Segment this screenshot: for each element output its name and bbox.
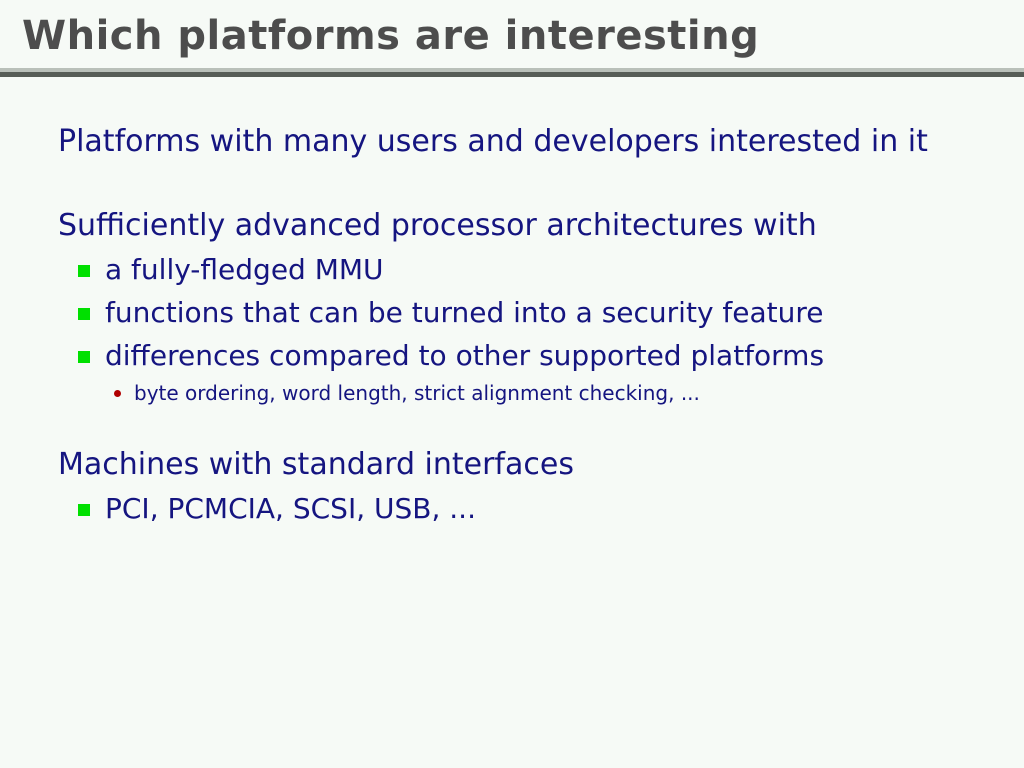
bullet-level1-heading: Sufficiently advanced processor architec… <box>58 204 1024 248</box>
bullet-level3-label: byte ordering, word length, strict align… <box>134 381 700 405</box>
bullet-level1-heading: Platforms with many users and developers… <box>58 120 1024 164</box>
bullet-level2-item: a fully-fledged MMU <box>78 248 1024 291</box>
bullet-level3-item: byte ordering, word length, strict align… <box>112 377 1024 409</box>
dot-bullet-icon <box>114 390 121 397</box>
square-bullet-icon <box>78 265 90 277</box>
bullet-level2-label: PCI, PCMCIA, SCSI, USB, ... <box>105 492 476 525</box>
bullet-level2-label: differences compared to other supported … <box>105 339 824 372</box>
slide-body: Platforms with many users and developers… <box>0 120 1024 530</box>
square-bullet-icon <box>78 504 90 516</box>
slide-canvas: Which platforms are interesting Platform… <box>0 0 1024 768</box>
title-bar: Which platforms are interesting <box>0 0 1024 70</box>
page-title: Which platforms are interesting <box>22 13 759 59</box>
title-divider <box>0 68 1024 77</box>
divider-dark-rule <box>0 72 1024 77</box>
bullet-level2-label: a fully-fledged MMU <box>105 253 384 286</box>
square-bullet-icon <box>78 308 90 320</box>
bullet-level2-item: PCI, PCMCIA, SCSI, USB, ... <box>78 487 1024 530</box>
block-spacer <box>0 164 1024 204</box>
bullet-level2-item: functions that can be turned into a secu… <box>78 291 1024 334</box>
block-spacer <box>0 409 1024 443</box>
bullet-level1-heading: Machines with standard interfaces <box>58 443 1024 487</box>
bullet-level2-item: differences compared to other supported … <box>78 334 1024 377</box>
square-bullet-icon <box>78 351 90 363</box>
bullet-level2-label: functions that can be turned into a secu… <box>105 296 824 329</box>
